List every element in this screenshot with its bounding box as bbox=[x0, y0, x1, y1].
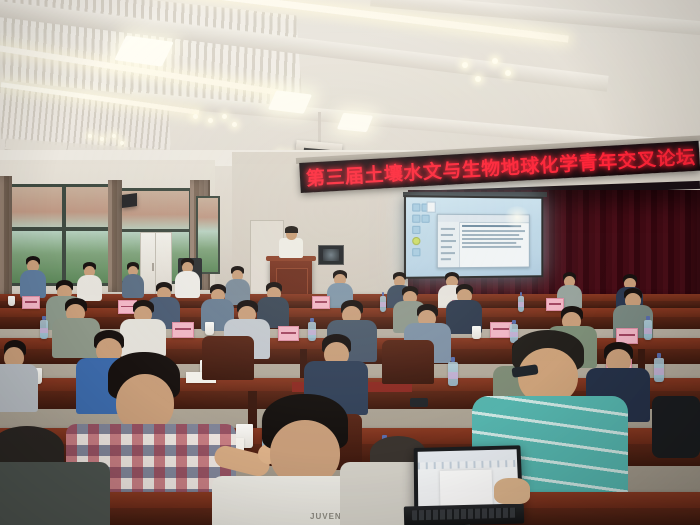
water-bottle bbox=[654, 358, 664, 382]
name-card bbox=[278, 326, 299, 341]
chair-back bbox=[202, 336, 254, 380]
desktop-icon-document bbox=[427, 202, 436, 213]
downlight bbox=[112, 134, 116, 138]
downlight bbox=[193, 114, 198, 119]
downlight bbox=[462, 62, 468, 68]
word-ribbon bbox=[418, 460, 518, 469]
projection-screen bbox=[404, 195, 543, 279]
sidebar-entry bbox=[441, 228, 455, 230]
lecture-hall-photo: 第三届土壤水文与生物地球化学青年交叉论坛 bbox=[0, 0, 700, 525]
water-bottle bbox=[518, 296, 524, 312]
explorer-file-row bbox=[462, 238, 523, 240]
laptop-keyboard[interactable] bbox=[412, 508, 516, 521]
speaker-hair bbox=[285, 226, 298, 233]
hand-on-laptop bbox=[494, 478, 530, 504]
water-bottle bbox=[448, 362, 458, 386]
water-bottle bbox=[644, 320, 652, 340]
name-card bbox=[312, 296, 330, 309]
window-mullion bbox=[11, 227, 113, 231]
foreground-laptop-base[interactable] bbox=[404, 503, 524, 525]
downlight bbox=[232, 122, 237, 127]
paper-cup bbox=[472, 326, 481, 339]
downlight bbox=[492, 58, 498, 64]
smartphone[interactable] bbox=[410, 398, 428, 407]
downlight bbox=[208, 118, 213, 123]
explorer-file-row bbox=[462, 246, 521, 248]
explorer-sidebar bbox=[438, 222, 460, 267]
name-card bbox=[490, 322, 512, 338]
ceiling-led-panel bbox=[337, 113, 373, 133]
explorer-file-row bbox=[462, 234, 519, 236]
explorer-file-row bbox=[462, 230, 525, 232]
sidebar-entry bbox=[441, 246, 452, 248]
desktop-icon bbox=[412, 226, 420, 234]
wall-monitor bbox=[318, 245, 344, 265]
desktop-icon-folder bbox=[412, 237, 420, 245]
sidebar-entry bbox=[441, 234, 453, 236]
downlight bbox=[475, 76, 481, 82]
curtain-left bbox=[0, 176, 12, 296]
desktop-icon bbox=[412, 215, 420, 223]
paper-cup bbox=[205, 322, 214, 335]
desktop-icon bbox=[412, 248, 420, 256]
explorer-file-row bbox=[462, 242, 516, 244]
sidebar-entry bbox=[441, 258, 451, 260]
water-bottle bbox=[308, 322, 316, 341]
downlight bbox=[222, 114, 227, 119]
desktop-icon bbox=[412, 203, 420, 211]
projector-hotspot bbox=[503, 206, 532, 228]
backpack bbox=[652, 396, 700, 458]
curtain-middle bbox=[108, 180, 122, 292]
water-bottle bbox=[40, 320, 48, 339]
name-card bbox=[22, 296, 40, 309]
projector-mount-pole bbox=[318, 112, 321, 144]
sidebar-entry bbox=[441, 240, 456, 242]
downlight bbox=[88, 134, 92, 138]
downlight bbox=[120, 141, 124, 145]
water-bottle bbox=[380, 296, 386, 312]
chair-back bbox=[382, 340, 434, 384]
downlight bbox=[100, 137, 104, 141]
desktop-icon bbox=[421, 215, 429, 223]
cabinet-handle bbox=[152, 263, 154, 271]
speaker-body bbox=[279, 238, 303, 258]
sidebar-entry bbox=[441, 252, 455, 254]
paper-cup bbox=[8, 296, 15, 306]
window-mullion bbox=[62, 187, 66, 283]
downlight bbox=[505, 70, 511, 76]
name-card bbox=[172, 322, 194, 338]
wall-speaker-icon bbox=[122, 193, 137, 208]
